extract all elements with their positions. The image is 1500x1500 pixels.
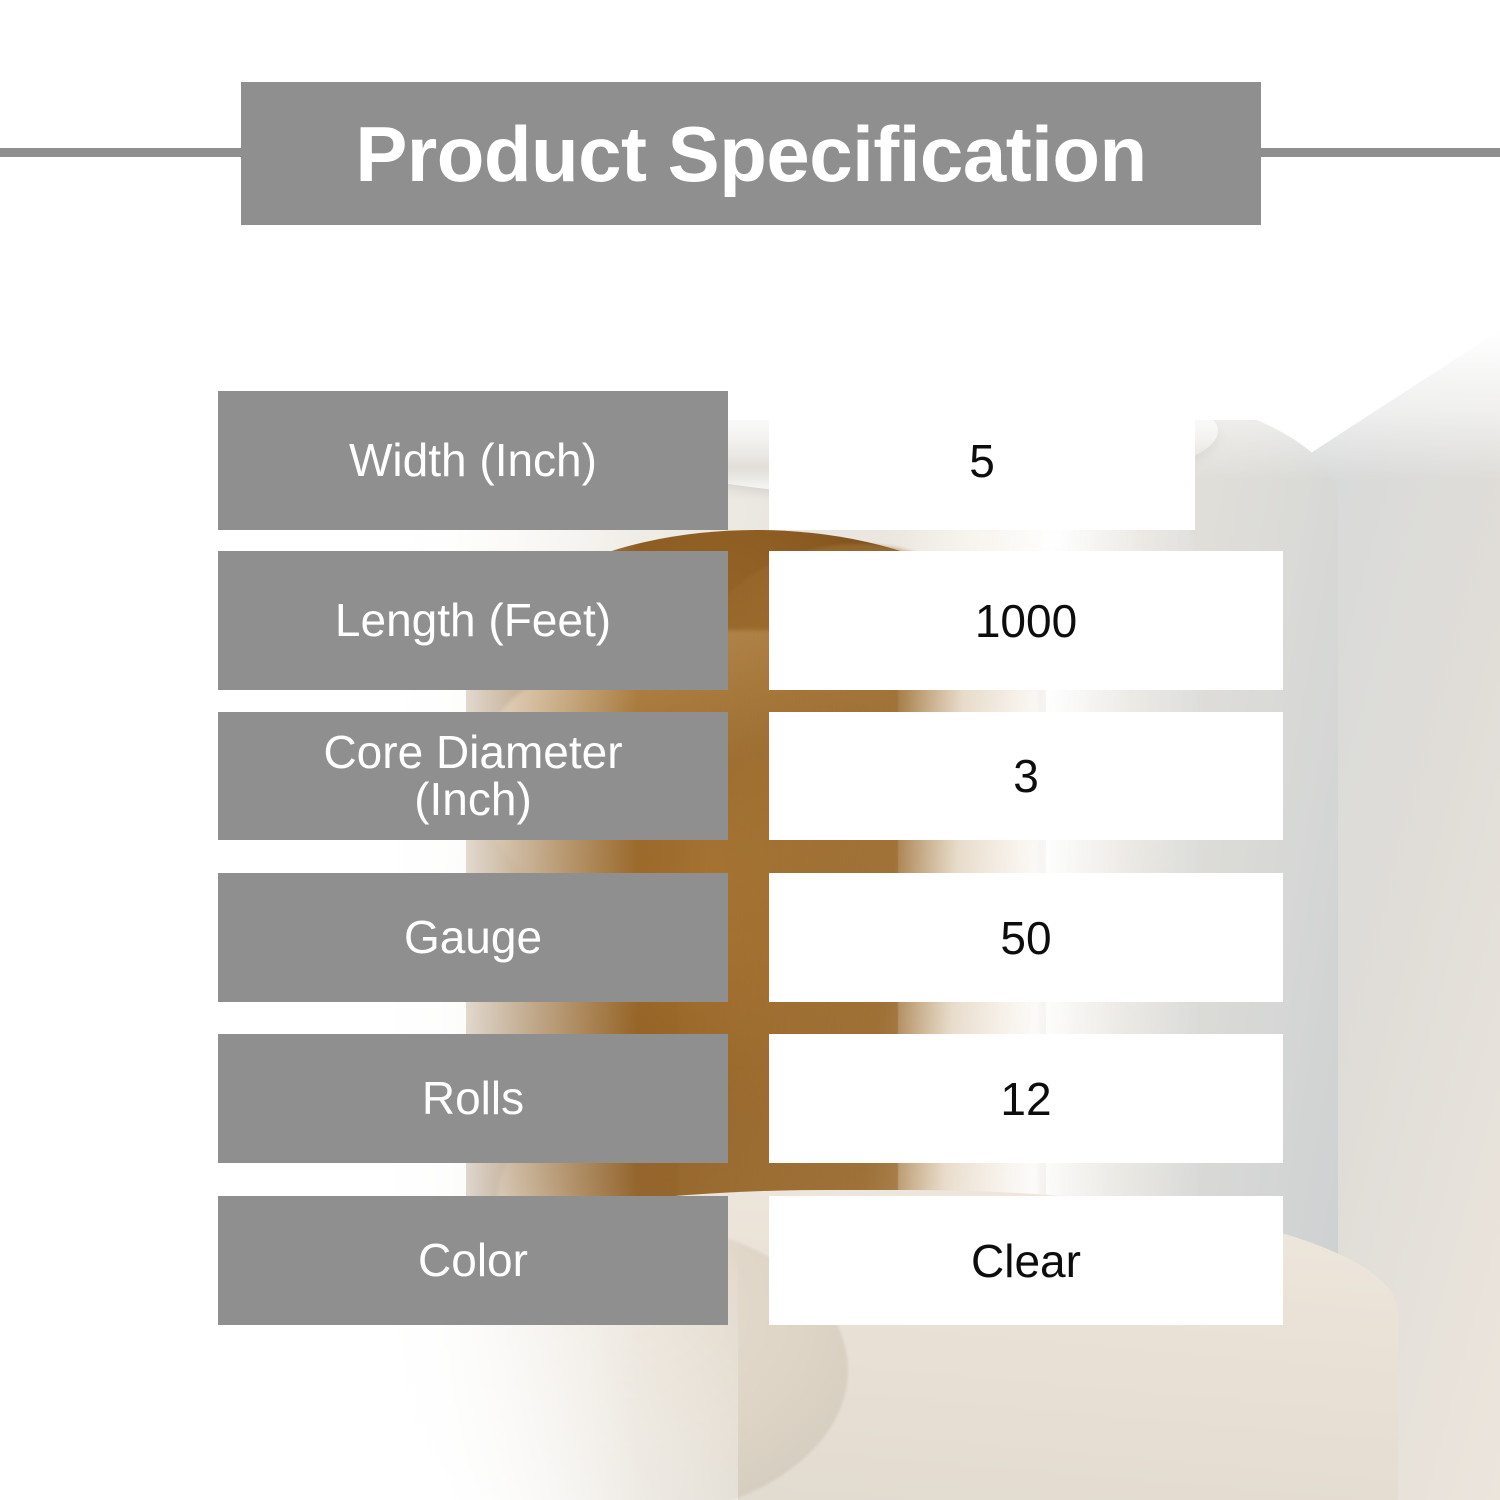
- page-title: Product Specification: [355, 115, 1146, 193]
- title-rule-right: [1252, 148, 1500, 157]
- spec-row-length: Length (Feet) 1000: [0, 551, 1500, 690]
- spec-label-width: Width (Inch): [218, 391, 728, 530]
- spec-value-length: 1000: [769, 551, 1283, 690]
- spec-label-color: Color: [218, 1196, 728, 1325]
- spec-label-length: Length (Feet): [218, 551, 728, 690]
- spec-label-core-diameter: Core Diameter (Inch): [218, 712, 728, 840]
- spec-label-rolls: Rolls: [218, 1034, 728, 1163]
- spec-row-width: Width (Inch) 5: [0, 391, 1500, 530]
- spec-label-gauge: Gauge: [218, 873, 728, 1002]
- spec-row-rolls: Rolls 12: [0, 1034, 1500, 1163]
- product-specification-infographic: Product Specification Width (Inch) 5 Len…: [0, 0, 1500, 1500]
- title-rule-left: [0, 148, 250, 157]
- spec-value-rolls: 12: [769, 1034, 1283, 1163]
- spec-row-core-diameter: Core Diameter (Inch) 3: [0, 712, 1500, 840]
- spec-value-gauge: 50: [769, 873, 1283, 1002]
- page-title-banner: Product Specification: [241, 82, 1261, 225]
- spec-value-color: Clear: [769, 1196, 1283, 1325]
- spec-row-color: Color Clear: [0, 1196, 1500, 1325]
- spec-row-gauge: Gauge 50: [0, 873, 1500, 1002]
- spec-value-width: 5: [769, 391, 1195, 530]
- spec-value-core-diameter: 3: [769, 712, 1283, 840]
